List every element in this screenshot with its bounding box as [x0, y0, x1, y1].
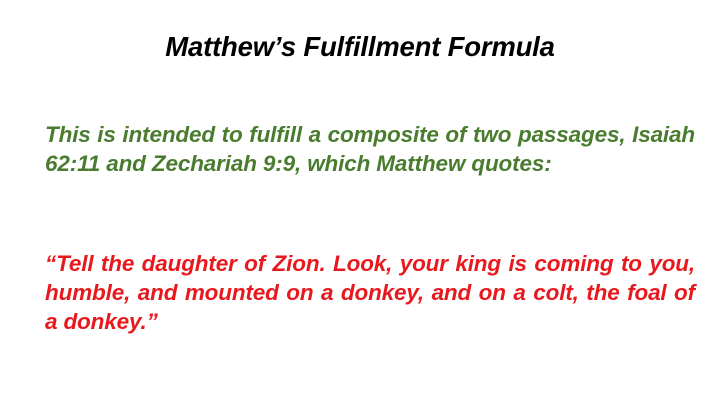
explanation-paragraph: This is intended to fulfill a composite … [45, 120, 695, 178]
presentation-slide: Matthew’s Fulfillment Formula This is in… [0, 0, 720, 405]
scripture-quote-paragraph: “Tell the daughter of Zion. Look, your k… [45, 249, 695, 336]
slide-title: Matthew’s Fulfillment Formula [40, 30, 680, 64]
